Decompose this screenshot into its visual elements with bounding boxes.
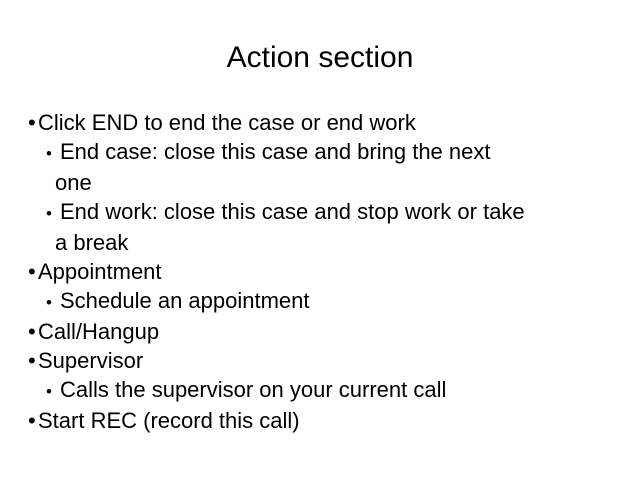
bullet-text: Click END to end the case or end work [38, 110, 416, 135]
bullet-continuation-line: a break [28, 228, 628, 257]
page-title: Action section [0, 38, 640, 78]
bullet-point-icon: • [28, 108, 38, 137]
bullet-point-icon: • [28, 406, 38, 435]
bullet-item: •Appointment [28, 257, 628, 286]
bullet-item: •End work: close this case and stop work… [28, 197, 628, 228]
bullet-text: End work: close this case and stop work … [60, 199, 525, 224]
bullet-text: one [55, 170, 92, 195]
slide-canvas: Action section •Click END to end the cas… [0, 0, 640, 480]
bullet-text: Calls the supervisor on your current cal… [60, 377, 446, 402]
bullet-point-icon: • [28, 317, 38, 346]
bullet-text: Appointment [38, 259, 162, 284]
bullet-point-icon: • [46, 288, 60, 317]
bullet-text: Start REC (record this call) [38, 408, 300, 433]
bullet-item: •End case: close this case and bring the… [28, 137, 628, 168]
bullet-item: •Click END to end the case or end work [28, 108, 628, 137]
bullet-list: •Click END to end the case or end work•E… [28, 108, 628, 435]
bullet-item: •Calls the supervisor on your current ca… [28, 375, 628, 406]
bullet-item: •Schedule an appointment [28, 286, 628, 317]
bullet-text: a break [55, 230, 128, 255]
bullet-point-icon: • [46, 139, 60, 168]
bullet-text: Call/Hangup [38, 319, 159, 344]
bullet-text: Schedule an appointment [60, 288, 310, 313]
bullet-item: •Call/Hangup [28, 317, 628, 346]
bullet-text: End case: close this case and bring the … [60, 139, 490, 164]
bullet-point-icon: • [28, 257, 38, 286]
bullet-point-icon: • [46, 199, 60, 228]
bullet-item: •Start REC (record this call) [28, 406, 628, 435]
bullet-item: •Supervisor [28, 346, 628, 375]
bullet-continuation-line: one [28, 168, 628, 197]
bullet-text: Supervisor [38, 348, 143, 373]
bullet-point-icon: • [46, 377, 60, 406]
bullet-point-icon: • [28, 346, 38, 375]
